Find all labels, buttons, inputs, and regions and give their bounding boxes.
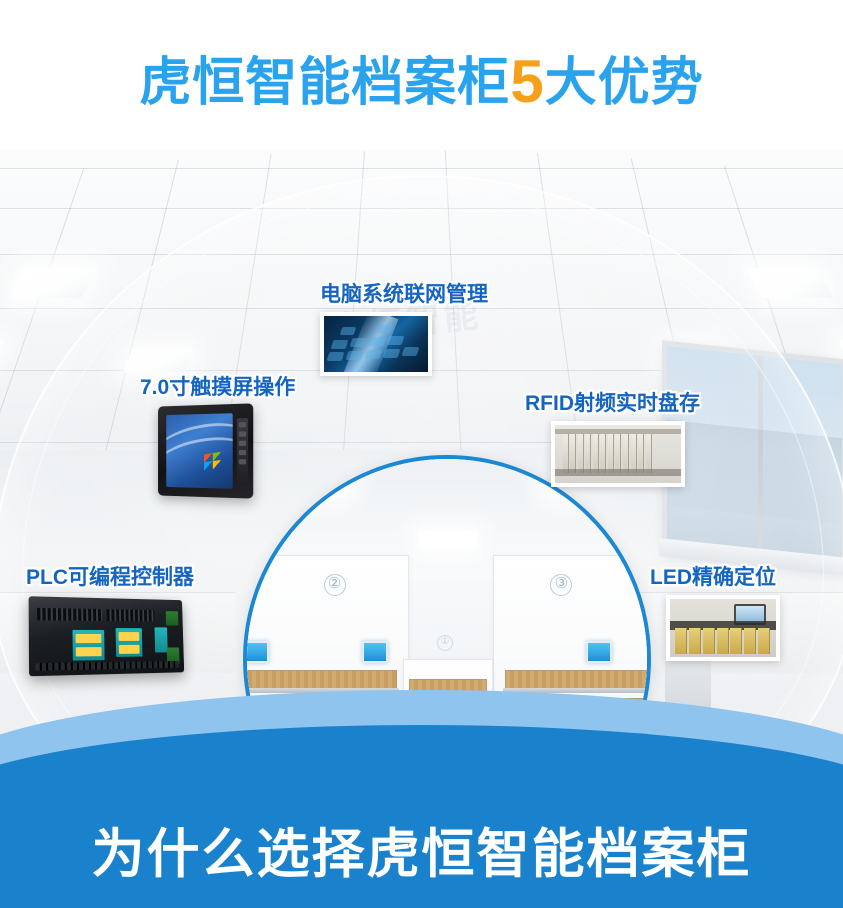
cabinet-display-icon [243, 641, 269, 663]
led-shelf-photo [666, 595, 780, 661]
feature-label: RFID射频实时盘存 [525, 392, 700, 415]
render-ceiling-light [419, 531, 477, 547]
promo-page: 虎恒智能档案柜5大优势 [0, 0, 843, 908]
cabinet-marker: ① [437, 635, 453, 651]
cabinet-marker: ③ [550, 574, 572, 596]
page-title-suffix: 大优势 [545, 54, 704, 112]
cabinet-display-icon [586, 641, 612, 663]
feature-label: 电脑系统联网管理 [320, 283, 488, 306]
footer-headline: 为什么选择虎恒智能档案柜 [0, 828, 843, 881]
render-ceiling-light [283, 479, 352, 497]
keyboard-photo [320, 312, 432, 376]
ceiling-light [123, 348, 195, 372]
feature-computer-network-management[interactable]: 电脑系统联网管理 [320, 283, 488, 376]
feature-label: LED精确定位 [650, 566, 780, 589]
industrial-touch-panel-photo [158, 403, 253, 498]
cabinet-display-icon [391, 675, 405, 686]
feature-rfid[interactable]: RFID射频实时盘存 [525, 392, 700, 487]
cabinet-display-icon [487, 675, 501, 686]
page-title-number: 5 [510, 48, 544, 115]
feature-label: PLC可编程控制器 [26, 566, 194, 589]
cabinet-marker: ② [324, 574, 346, 596]
page-title-main: 虎恒智能档案柜 [139, 54, 510, 112]
feature-led[interactable]: LED精确定位 [650, 566, 780, 661]
cabinet-display-icon [362, 641, 388, 663]
ceiling-light [10, 268, 97, 298]
ceiling-light [0, 340, 5, 366]
feature-touchscreen[interactable]: 7.0寸触摸屏操作 [140, 376, 295, 399]
plc-module-photo [29, 596, 185, 676]
windows-logo-icon [204, 452, 222, 471]
page-title: 虎恒智能档案柜5大优势 [0, 52, 843, 112]
rfid-tagged-files-photo [551, 421, 685, 487]
feature-label: 7.0寸触摸屏操作 [140, 376, 295, 399]
ceiling-light [747, 268, 834, 298]
feature-plc[interactable]: PLC可编程控制器 [26, 566, 194, 589]
